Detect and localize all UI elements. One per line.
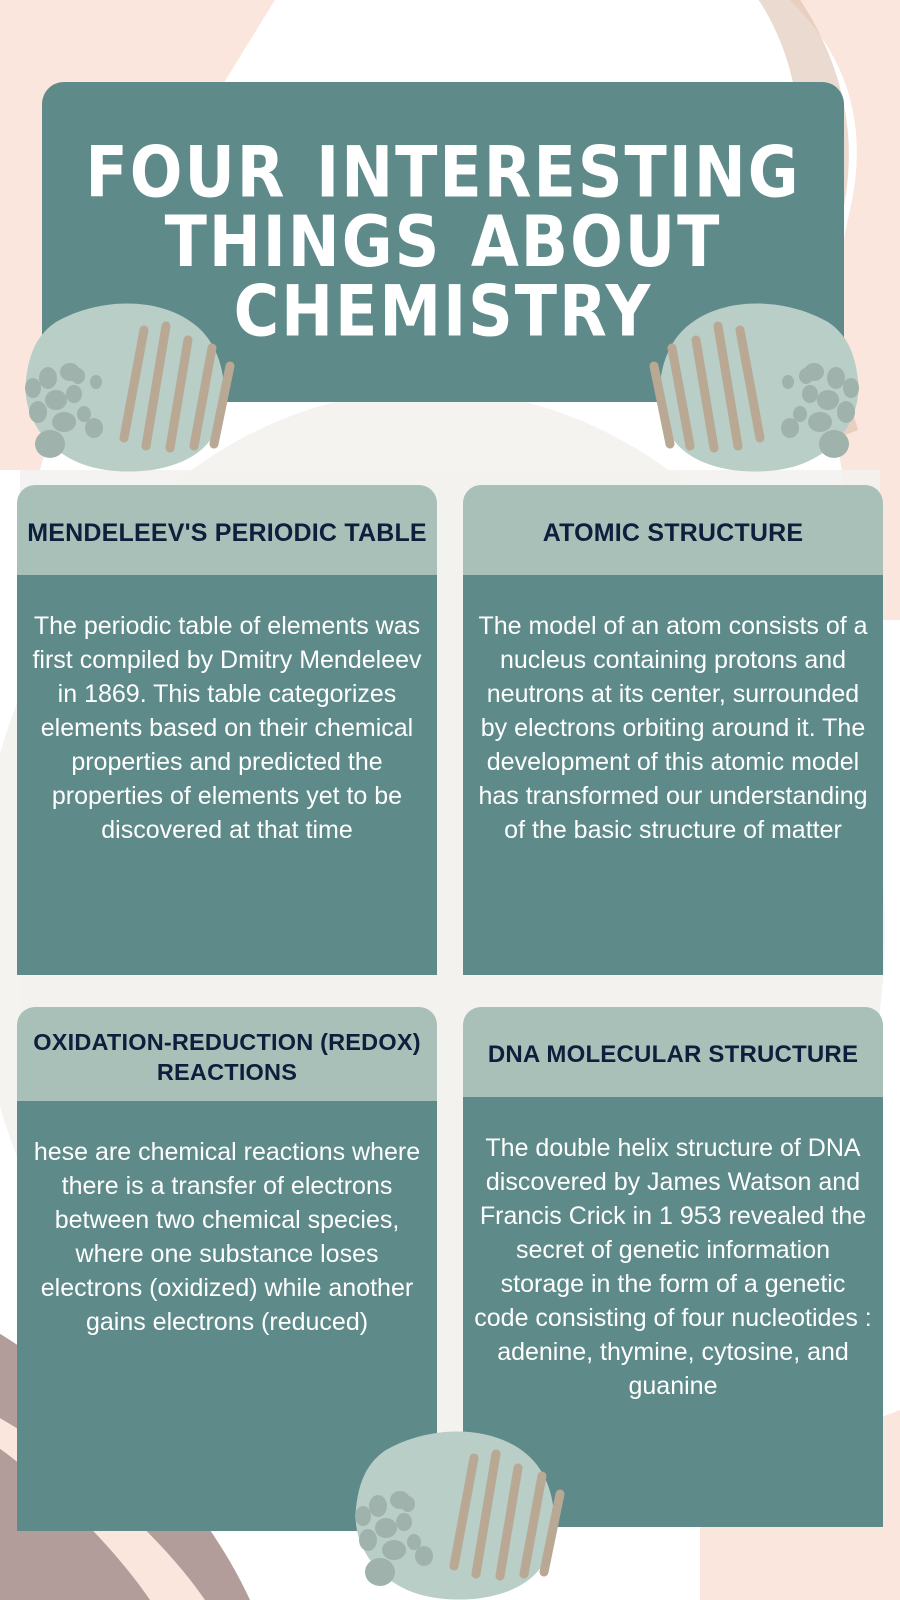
card-row-top: MENDELEEV'S PERIODIC TABLE The periodic … bbox=[0, 485, 900, 975]
card-mendeleev[interactable]: MENDELEEV'S PERIODIC TABLE The periodic … bbox=[17, 485, 437, 975]
card-body-redox: hese are chemical reactions where there … bbox=[17, 1101, 437, 1531]
card-body-atomic: The model of an atom consists of a nucle… bbox=[463, 575, 883, 975]
page-title: FOUR INTERESTING THINGS ABOUT CHEMISTRY bbox=[42, 138, 844, 346]
card-dna[interactable]: DNA MOLECULAR STRUCTURE The double helix… bbox=[463, 1007, 883, 1531]
card-row-bottom: OXIDATION-REDUCTION (REDOX) REACTIONS he… bbox=[0, 1007, 900, 1531]
card-redox[interactable]: OXIDATION-REDUCTION (REDOX) REACTIONS he… bbox=[17, 1007, 437, 1531]
card-title-mendeleev: MENDELEEV'S PERIODIC TABLE bbox=[17, 485, 437, 575]
card-body-dna: The double helix structure of DNA discov… bbox=[463, 1097, 883, 1527]
infographic-poster: FOUR INTERESTING THINGS ABOUT CHEMISTRY bbox=[0, 0, 900, 1600]
card-atomic[interactable]: ATOMIC STRUCTURE The model of an atom co… bbox=[463, 485, 883, 975]
card-title-dna: DNA MOLECULAR STRUCTURE bbox=[463, 1007, 883, 1097]
card-title-atomic: ATOMIC STRUCTURE bbox=[463, 485, 883, 575]
header-banner: FOUR INTERESTING THINGS ABOUT CHEMISTRY bbox=[42, 82, 844, 402]
card-title-redox: OXIDATION-REDUCTION (REDOX) REACTIONS bbox=[17, 1007, 437, 1101]
card-body-mendeleev: The periodic table of elements was first… bbox=[17, 575, 437, 975]
cards-grid: MENDELEEV'S PERIODIC TABLE The periodic … bbox=[0, 485, 900, 1531]
